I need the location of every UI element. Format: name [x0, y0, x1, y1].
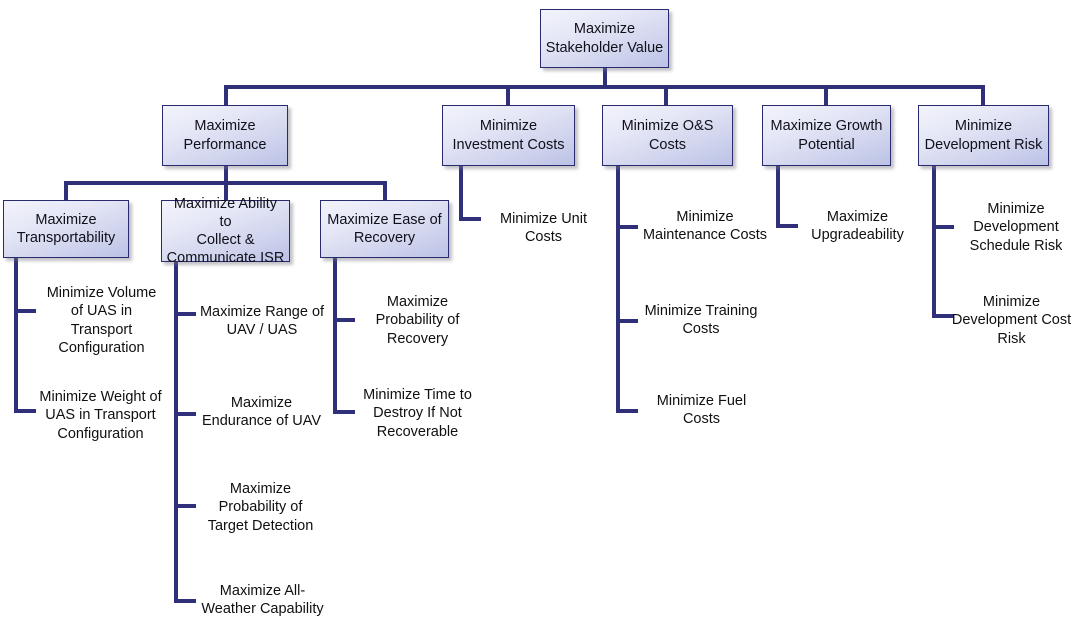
leaf-maximize-endurance-uav: MaximizeEndurance of UAV [190, 394, 333, 431]
connector-trunk-devrisk [932, 166, 936, 318]
connector-trunk-recovery [333, 258, 337, 414]
connector-stub-devrisk-1 [932, 225, 954, 229]
leaf-maximize-all-weather-capability: Maximize All-Weather Capability [190, 582, 335, 619]
connector-drop-investment [506, 85, 510, 105]
node-label: Minimize O&SCosts [622, 117, 714, 153]
leaf-maximize-probability-recovery: MaximizeProbability ofRecovery [354, 293, 481, 348]
connector-drop-devrisk [981, 85, 985, 105]
leaf-minimize-training-costs: Minimize TrainingCosts [636, 302, 766, 339]
node-maximize-ease-of-recovery[interactable]: Maximize Ease ofRecovery [320, 200, 449, 258]
node-minimize-os-costs[interactable]: Minimize O&SCosts [602, 105, 733, 166]
node-maximize-growth-potential[interactable]: Maximize GrowthPotential [762, 105, 891, 166]
connector-drop-growth [824, 85, 828, 105]
node-label: Maximize Ability toCollect &Communicate … [166, 195, 285, 268]
leaf-minimize-development-schedule-risk: MinimizeDevelopmentSchedule Risk [952, 200, 1080, 255]
node-maximize-ability-collect-communicate-isr[interactable]: Maximize Ability toCollect &Communicate … [161, 200, 290, 262]
node-label: MaximizeStakeholder Value [546, 20, 663, 56]
node-label: MaximizeTransportability [17, 211, 116, 247]
connector-drop-performance [224, 85, 228, 105]
node-maximize-performance[interactable]: MaximizePerformance [162, 105, 288, 166]
leaf-maximize-probability-target-detection: MaximizeProbability ofTarget Detection [193, 480, 328, 535]
connector-trunk-growth [776, 166, 780, 228]
node-label: MinimizeDevelopment Risk [925, 117, 1043, 153]
leaf-maximize-upgradeability: MaximizeUpgradeability [795, 208, 920, 245]
leaf-minimize-development-cost-risk: MinimizeDevelopment CostRisk [942, 293, 1081, 348]
leaf-minimize-fuel-costs: Minimize FuelCosts [644, 392, 759, 429]
connector-trunk-investment [459, 166, 463, 221]
connector-level1-bus [224, 85, 985, 89]
node-maximize-transportability[interactable]: MaximizeTransportability [3, 200, 129, 258]
connector-stub-investment-1 [459, 217, 481, 221]
connector-trunk-isr [174, 258, 178, 603]
leaf-minimize-volume-uas-transport: Minimize Volumeof UAS inTransportConfigu… [34, 284, 169, 357]
node-label: Maximize GrowthPotential [771, 117, 883, 153]
leaf-minimize-weight-uas-transport: Minimize Weight ofUAS in TransportConfig… [28, 388, 173, 443]
node-minimize-development-risk[interactable]: MinimizeDevelopment Risk [918, 105, 1049, 166]
node-label: Maximize Ease ofRecovery [327, 211, 441, 247]
connector-stub-os-3 [616, 409, 638, 413]
leaf-minimize-unit-costs: Minimize UnitCosts [479, 210, 608, 247]
connector-stub-os-2 [616, 319, 638, 323]
connector-trunk-transportability [14, 258, 18, 413]
node-label: MaximizePerformance [183, 117, 266, 153]
connector-stub-recovery-1 [333, 318, 355, 322]
objectives-tree-diagram: MaximizeStakeholder Value MaximizePerfor… [0, 0, 1085, 629]
connector-drop-os [664, 85, 668, 105]
leaf-minimize-time-destroy-if-not-recoverable: Minimize Time toDestroy If NotRecoverabl… [351, 386, 484, 441]
connector-drop-recovery [383, 181, 387, 200]
connector-drop-transportability [64, 181, 68, 200]
node-minimize-investment-costs[interactable]: MinimizeInvestment Costs [442, 105, 575, 166]
connector-stub-transportability-1 [14, 309, 36, 313]
node-root-maximize-stakeholder-value[interactable]: MaximizeStakeholder Value [540, 9, 669, 68]
leaf-minimize-maintenance-costs: MinimizeMaintenance Costs [635, 208, 775, 245]
leaf-maximize-range-uav-uas: Maximize Range ofUAV / UAS [192, 303, 332, 340]
connector-trunk-os [616, 166, 620, 413]
node-label: MinimizeInvestment Costs [452, 117, 564, 153]
